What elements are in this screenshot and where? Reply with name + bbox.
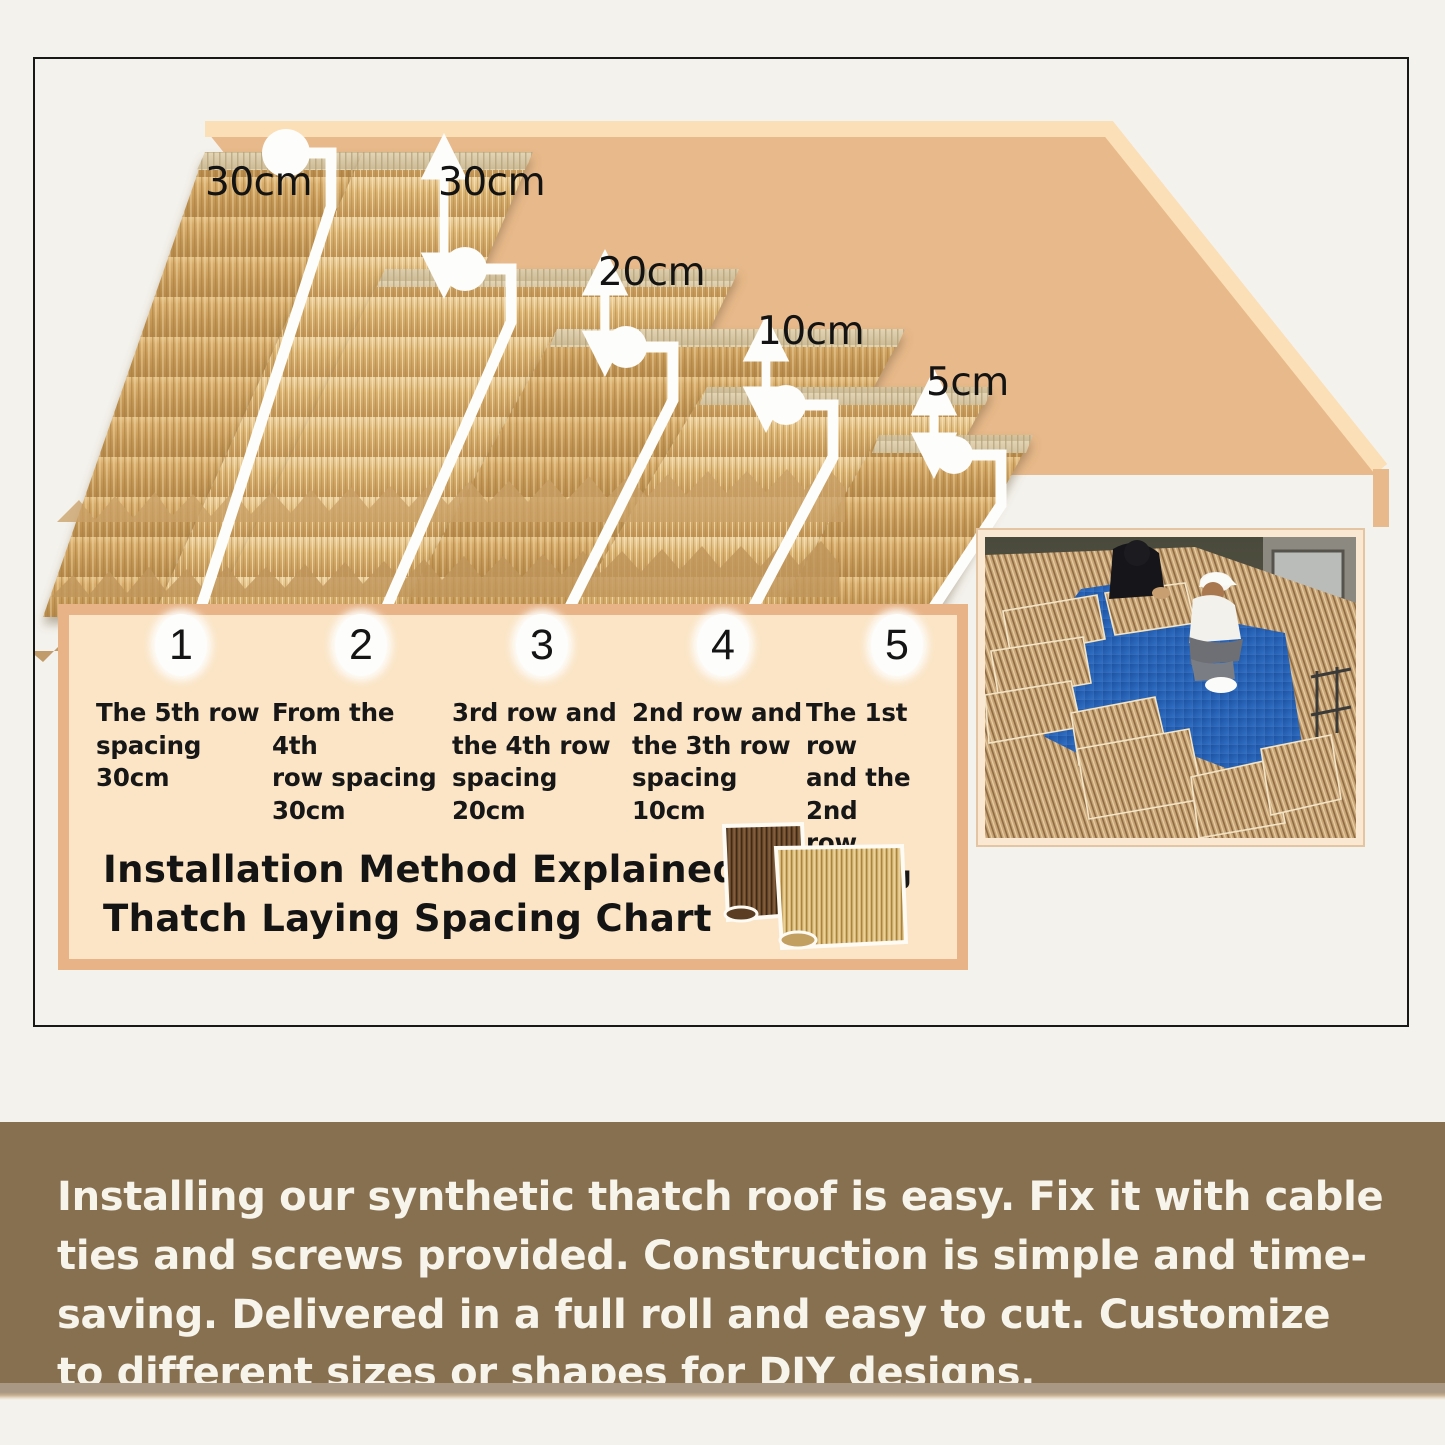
banner-text: Installing our synthetic thatch roof is … xyxy=(57,1168,1387,1403)
banner-bottom-strip xyxy=(0,1383,1445,1400)
content-frame xyxy=(33,57,1409,1027)
infographic-stage: 30cm 30cm 20cm 10cm 5cm 1 2 3 4 5 The 5t… xyxy=(0,0,1445,1445)
